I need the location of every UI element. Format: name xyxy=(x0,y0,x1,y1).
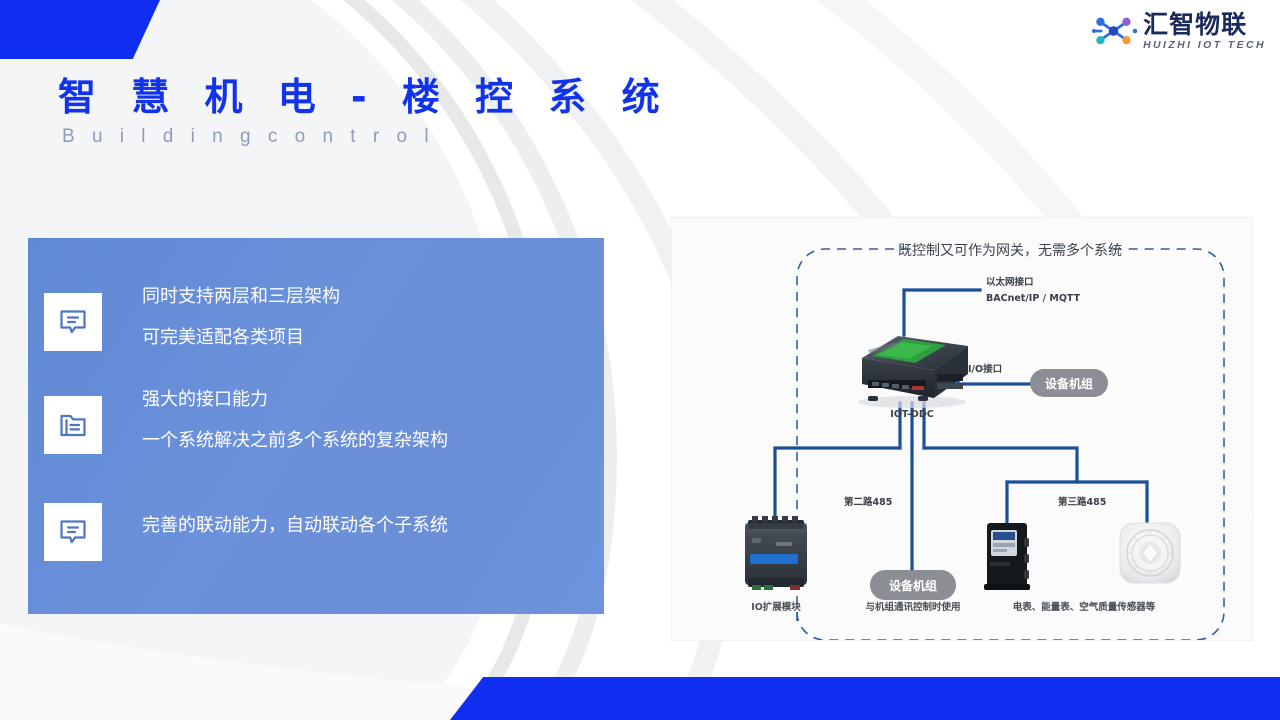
architecture-diagram: 既控制又可作为网关，无需多个系统 xyxy=(672,218,1252,640)
logo-chinese-name: 汇智物联 xyxy=(1143,12,1247,37)
feature-panel: 同时支持两层和三层架构 可完美适配各类项目 强大的接口能力 一个系统解决之前多个… xyxy=(28,238,604,614)
architecture-diagram-card: 既控制又可作为网关，无需多个系统 xyxy=(672,218,1252,640)
logo-english-name: HUIZHI IOT TECH xyxy=(1143,40,1266,51)
ethernet-port-label-line1: 以太网接口 xyxy=(986,276,1034,288)
feature-text: 同时支持两层和三层架构 xyxy=(142,288,340,307)
pill-label: 设备机组 xyxy=(889,578,937,593)
page-title: 智 慧 机 电 - 楼 控 系 统 xyxy=(58,66,671,121)
folder-document-icon xyxy=(44,396,102,454)
brand-logo: 汇智物联 HUIZHI IOT TECH xyxy=(1092,12,1266,51)
feature-item-0: 同时支持两层和三层架构 可完美适配各类项目 xyxy=(44,293,340,351)
diagram-heading: 既控制又可作为网关，无需多个系统 xyxy=(898,242,1122,259)
node-caption: 电表、能量表、空气质量传感器等 xyxy=(1013,601,1156,613)
node-caption: IO扩展模块 xyxy=(751,601,801,613)
corner-accent-bottom-right xyxy=(450,677,1280,720)
feature-text: 一个系统解决之前多个系统的复杂架构 xyxy=(142,432,448,451)
air-quality-sensor xyxy=(1120,523,1180,583)
io-expansion-module xyxy=(745,516,807,590)
page-subtitle: B u i l d i n g c o n t r o l xyxy=(62,126,435,148)
pill-label: 设备机组 xyxy=(1045,376,1093,391)
molecule-network-icon xyxy=(1092,13,1138,49)
meter-device xyxy=(984,523,1030,590)
feature-item-1: 强大的接口能力 一个系统解决之前多个系统的复杂架构 xyxy=(44,396,448,454)
ethernet-port-label-line2: BACnet/IP / MQTT xyxy=(986,293,1081,304)
equipment-unit-pill-bottom: 设备机组 xyxy=(870,570,956,600)
io-port-label: I/O接口 xyxy=(968,363,1002,375)
equipment-unit-pill-top: 设备机组 xyxy=(1030,369,1108,397)
feature-text: 强大的接口能力 xyxy=(142,391,448,410)
feature-text: 可完美适配各类项目 xyxy=(142,329,340,348)
feature-item-2: 完善的联动能力，自动联动各个子系统 xyxy=(44,503,448,561)
corner-accent-top-left xyxy=(0,0,160,59)
chat-bubble-icon xyxy=(44,293,102,351)
controller-label: IOT-DDC xyxy=(890,409,933,420)
bus-label-485-2: 第二路485 xyxy=(844,496,892,508)
chat-bubble-icon xyxy=(44,503,102,561)
bus-label-485-3: 第三路485 xyxy=(1058,496,1106,508)
node-caption: 与机组通讯控制时使用 xyxy=(865,601,960,613)
feature-text: 完善的联动能力，自动联动各个子系统 xyxy=(142,517,448,536)
